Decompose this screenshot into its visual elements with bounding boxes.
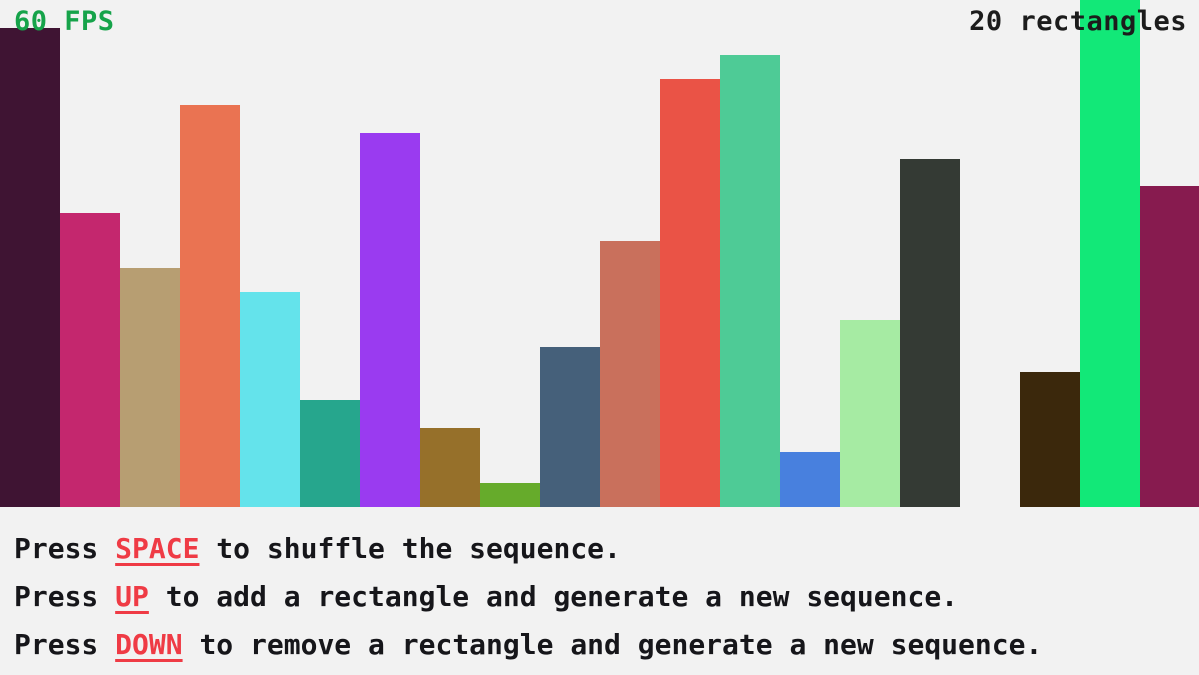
bar-16 — [900, 159, 960, 507]
bar-4 — [180, 105, 240, 507]
bar-13 — [720, 55, 780, 507]
bar-6 — [300, 400, 360, 507]
rectangle-count-label: 20 rectangles — [969, 8, 1187, 35]
bar-12 — [660, 79, 720, 507]
key-space[interactable]: SPACE — [115, 532, 199, 565]
instruction-line-2: Press UP to add a rectangle and generate… — [14, 573, 1199, 621]
fps-counter: 60 FPS — [14, 8, 115, 35]
bar-chart — [0, 0, 1199, 507]
instruction-line-1: Press SPACE to shuffle the sequence. — [14, 525, 1199, 573]
key-up[interactable]: UP — [115, 580, 149, 613]
instruction-suffix: to remove a rectangle and generate a new… — [183, 628, 1043, 661]
bar-18 — [1020, 372, 1080, 507]
bar-19 — [1080, 0, 1140, 507]
bar-8 — [420, 428, 480, 507]
bar-15 — [840, 320, 900, 507]
key-down[interactable]: DOWN — [115, 628, 182, 661]
instruction-suffix: to shuffle the sequence. — [199, 532, 620, 565]
bar-11 — [600, 241, 660, 507]
instructions-panel: Press SPACE to shuffle the sequence.Pres… — [0, 507, 1199, 675]
bar-10 — [540, 347, 600, 507]
instruction-prefix: Press — [14, 532, 115, 565]
bar-1 — [0, 28, 60, 507]
bar-5 — [240, 292, 300, 507]
instruction-prefix: Press — [14, 628, 115, 661]
bar-9 — [480, 483, 540, 507]
instruction-prefix: Press — [14, 580, 115, 613]
app-canvas: 60 FPS 20 rectangles Press SPACE to shuf… — [0, 0, 1199, 675]
bar-14 — [780, 452, 840, 507]
instruction-suffix: to add a rectangle and generate a new se… — [149, 580, 958, 613]
instruction-line-3: Press DOWN to remove a rectangle and gen… — [14, 621, 1199, 669]
bar-7 — [360, 133, 420, 507]
bar-3 — [120, 268, 180, 507]
bar-2 — [60, 213, 120, 507]
bar-20 — [1140, 186, 1199, 507]
